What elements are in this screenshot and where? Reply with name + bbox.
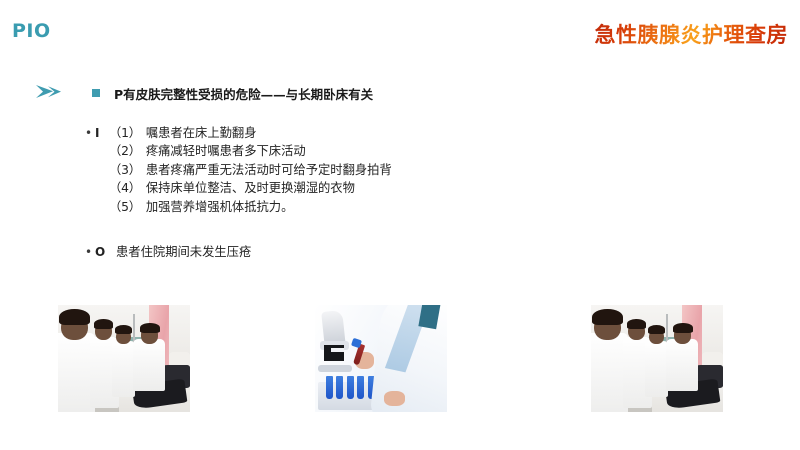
square-bullet-icon xyxy=(92,89,100,97)
slide-body: P有皮肤完整性受损的危险——与长期卧床有关 • I （1）嘱患者在床上勤翻身 （… xyxy=(0,78,800,261)
arrow-right-icon xyxy=(36,84,62,100)
list-item-text: 加强营养增强机体抵抗力。 xyxy=(146,200,294,214)
intervention-items: （1）嘱患者在床上勤翻身 （2）疼痛减轻时嘱患者多下床活动 （3）患者疼痛严重无… xyxy=(109,124,392,216)
list-item-number: （5） xyxy=(109,200,141,214)
list-item: （3）患者疼痛严重无法活动时可给予定时翻身拍背 xyxy=(109,161,392,179)
list-item-text: 疼痛减轻时嘱患者多下床活动 xyxy=(146,144,306,158)
intervention-tag: I xyxy=(95,124,109,142)
list-item-number: （4） xyxy=(109,181,141,195)
outcome-row: • O 患者住院期间未发生压疮 xyxy=(85,243,800,261)
list-item-text: 保持床单位整洁、及时更换潮湿的衣物 xyxy=(146,181,355,195)
deck-title: 急性胰腺炎护理查房 xyxy=(595,19,789,49)
list-item-number: （1） xyxy=(109,126,141,140)
outcome-tag: O xyxy=(95,243,109,261)
list-item: （1）嘱患者在床上勤翻身 xyxy=(109,124,392,142)
bullet-dot-icon: • xyxy=(85,124,95,142)
presentation-slide: PIO 急性胰腺炎护理查房 P有皮肤完整性受损的危险——与长期卧床有关 • I … xyxy=(0,0,800,450)
list-item-number: （2） xyxy=(109,144,141,158)
photo-ward-rounds-left xyxy=(58,305,190,412)
photo-laboratory-testing xyxy=(315,305,447,412)
list-item-text: 患者疼痛严重无法活动时可给予定时翻身拍背 xyxy=(146,163,392,177)
list-item: （5）加强营养增强机体抵抗力。 xyxy=(109,198,392,216)
photo-strip xyxy=(0,305,800,415)
page-title: PIO xyxy=(12,20,51,42)
headline-text: P有皮肤完整性受损的危险——与长期卧床有关 xyxy=(114,84,373,103)
list-item-text: 嘱患者在床上勤翻身 xyxy=(146,126,257,140)
pio-block: • I （1）嘱患者在床上勤翻身 （2）疼痛减轻时嘱患者多下床活动 （3）患者疼… xyxy=(0,124,800,261)
list-item: （4）保持床单位整洁、及时更换潮湿的衣物 xyxy=(109,179,392,197)
list-item: （2）疼痛减轻时嘱患者多下床活动 xyxy=(109,142,392,160)
headline-row: P有皮肤完整性受损的危险——与长期卧床有关 xyxy=(0,78,800,108)
intervention-row: • I （1）嘱患者在床上勤翻身 （2）疼痛减轻时嘱患者多下床活动 （3）患者疼… xyxy=(85,124,800,216)
list-item-number: （3） xyxy=(109,163,141,177)
photo-ward-rounds-right xyxy=(591,305,723,412)
bullet-dot-icon: • xyxy=(85,243,95,261)
outcome-text: 患者住院期间未发生压疮 xyxy=(116,243,251,261)
